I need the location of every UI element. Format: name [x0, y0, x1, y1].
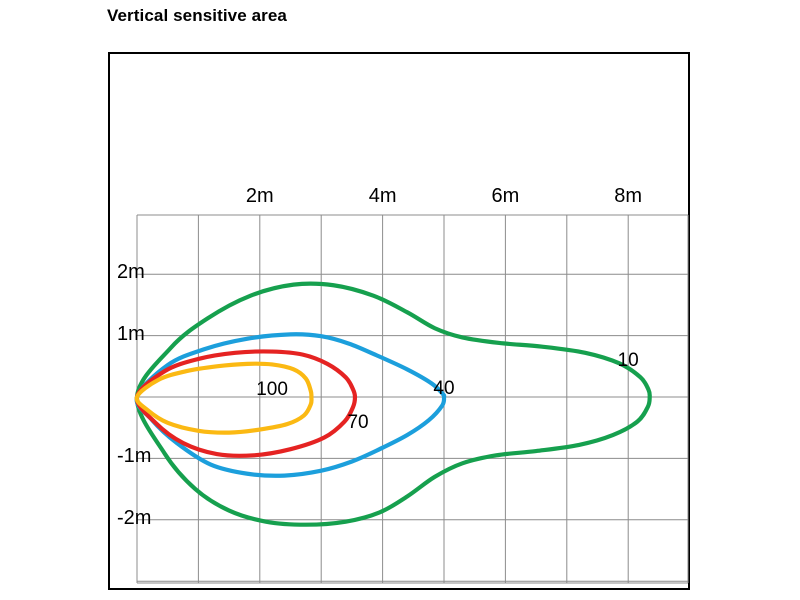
x-axis-tick-2m: 2m	[246, 185, 274, 208]
curve-label-100: 100	[256, 379, 288, 401]
chart-page: Vertical sensitive area 2m4m6m8m2m1m-1m-…	[0, 0, 800, 600]
y-axis-tick-1m: 1m	[117, 323, 145, 346]
page-title: Vertical sensitive area	[107, 6, 287, 26]
curve-label-70: 70	[347, 412, 368, 434]
plot-frame	[108, 52, 690, 590]
curve-label-40: 40	[433, 378, 454, 400]
y-axis-tick-neg2m: -2m	[117, 507, 151, 530]
y-axis-tick-2m: 2m	[117, 261, 145, 284]
curve-label-10: 10	[618, 350, 639, 372]
x-axis-tick-4m: 4m	[369, 185, 397, 208]
y-axis-tick-neg1m: -1m	[117, 445, 151, 468]
x-axis-tick-6m: 6m	[491, 185, 519, 208]
x-axis-tick-8m: 8m	[614, 185, 642, 208]
